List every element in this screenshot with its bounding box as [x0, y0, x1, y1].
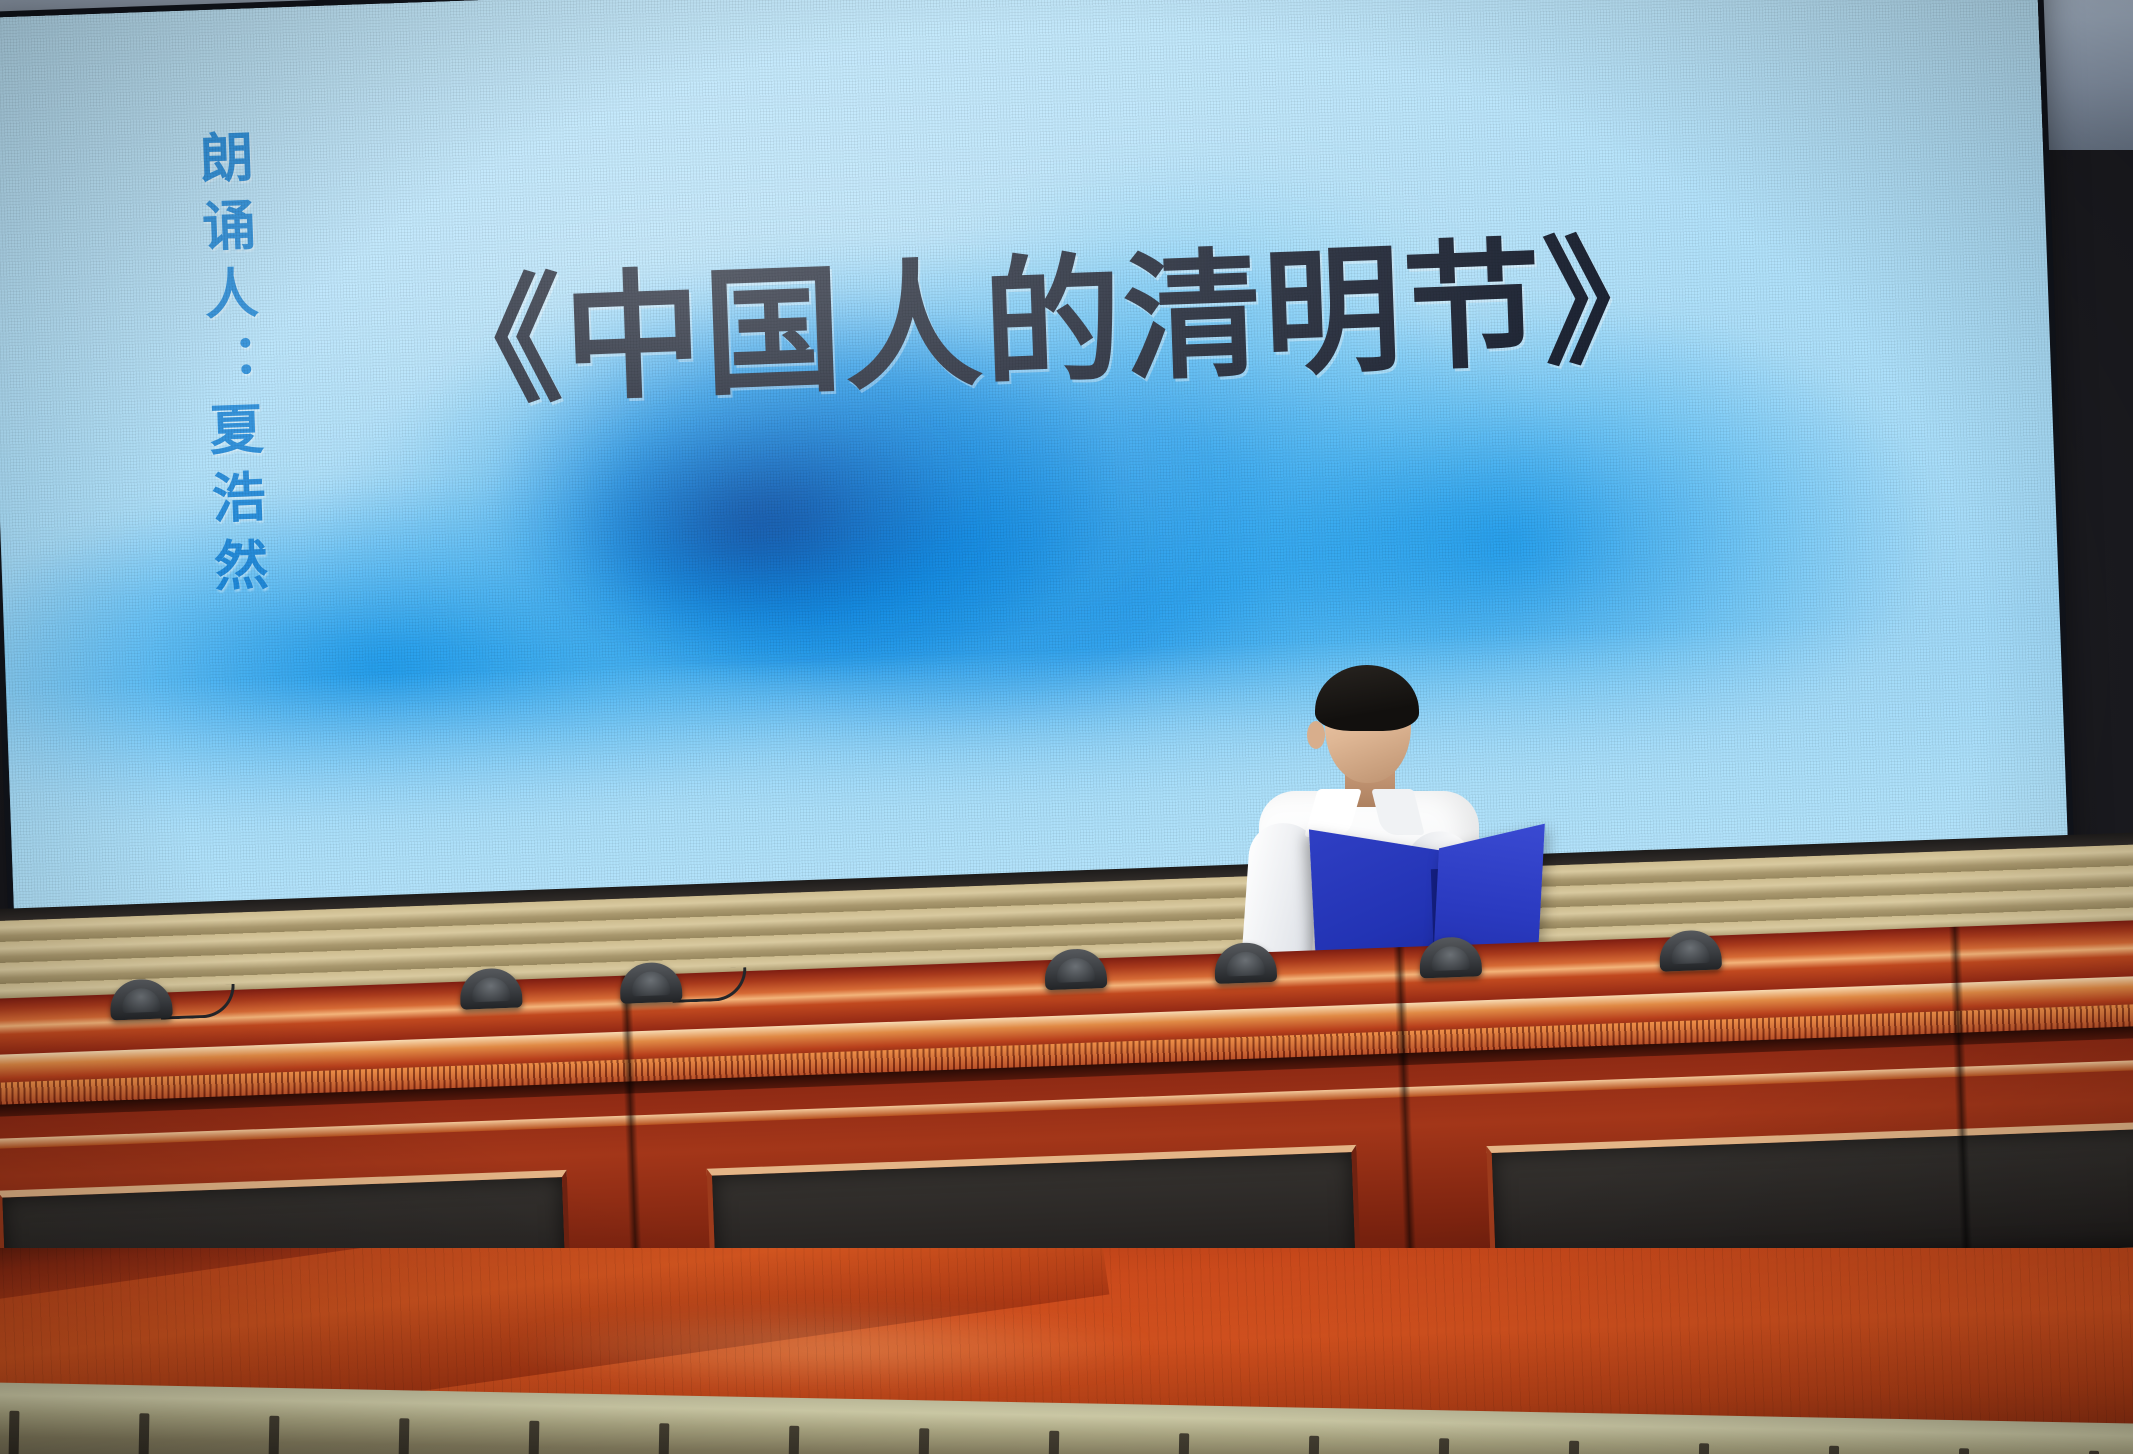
- led-screen: 《中国人的清明节》 朗诵人：夏浩然: [0, 0, 2069, 937]
- stage-scene: 《中国人的清明节》 朗诵人：夏浩然: [0, 0, 2133, 1454]
- person-hair: [1315, 665, 1419, 731]
- mountain-layer-core: [557, 403, 965, 637]
- person-ear: [1307, 721, 1325, 749]
- led-screen-region: 《中国人的清明节》 朗诵人：夏浩然: [0, 0, 2133, 980]
